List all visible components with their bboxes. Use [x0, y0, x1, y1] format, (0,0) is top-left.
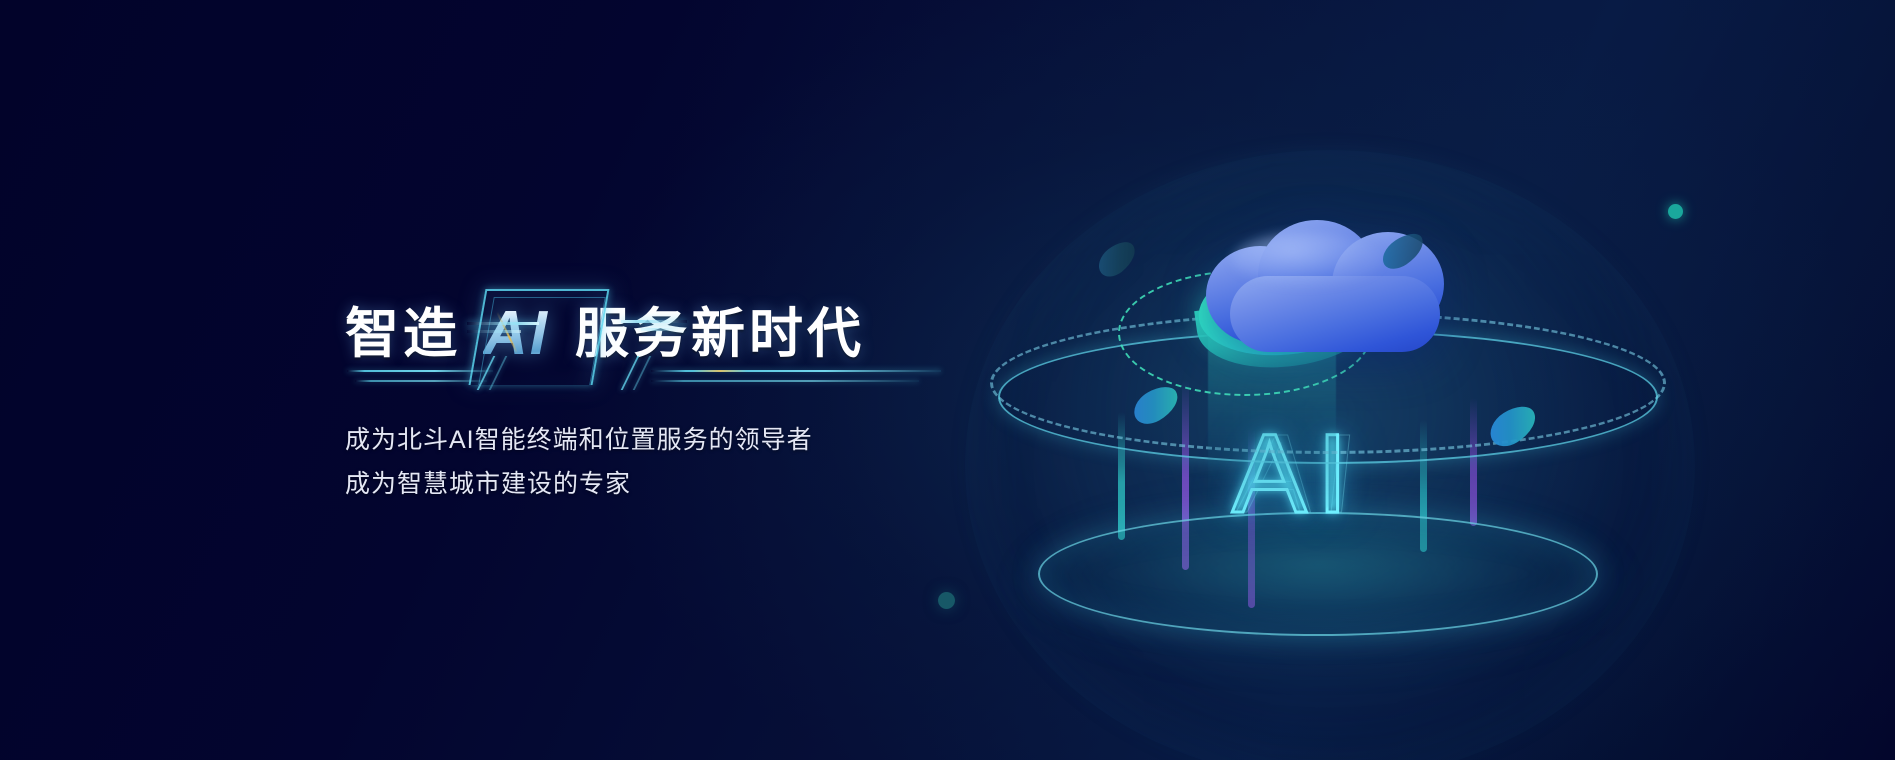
underline-left-1 [347, 370, 493, 372]
headline-streak-left-2 [467, 330, 521, 333]
underline-right-1 [651, 370, 941, 372]
ai-cloud-platform-illustration: AI AI [1000, 180, 1660, 700]
headline-streak-right-2 [641, 328, 687, 331]
underline-right-2 [651, 380, 919, 382]
particle-dark-teal-upper-left [1092, 236, 1141, 282]
underline-left-2 [355, 380, 487, 382]
hero-banner: 智造 AI 服务新时代 [0, 0, 1895, 760]
ai-logo-mark: AI [483, 303, 549, 365]
underline-gold-accent [693, 370, 747, 372]
subtitle-line-1: 成为北斗AI智能终端和位置服务的领导者 [345, 418, 965, 462]
ai-logo-text: AI [483, 299, 549, 368]
page-title: 智造 AI 服务新时代 [345, 296, 965, 372]
glow-dot-right [1668, 204, 1683, 219]
headline-streak-left-1 [467, 322, 539, 325]
headline-underline-decoration [345, 366, 945, 392]
glow-dot-lower-left [938, 592, 955, 609]
cloud-lobe-base [1230, 276, 1440, 352]
hero-copy: 智造 AI 服务新时代 [345, 296, 965, 506]
hero-subtitle: 成为北斗AI智能终端和位置服务的领导者 成为智慧城市建设的专家 [345, 418, 965, 506]
subtitle-line-2: 成为智慧城市建设的专家 [345, 462, 965, 506]
headline-prefix: 智造 [345, 307, 461, 361]
cloud-highlight [1232, 232, 1382, 286]
headline-streak-right-1 [621, 320, 687, 323]
headline-suffix: 服务新时代 [575, 307, 865, 361]
